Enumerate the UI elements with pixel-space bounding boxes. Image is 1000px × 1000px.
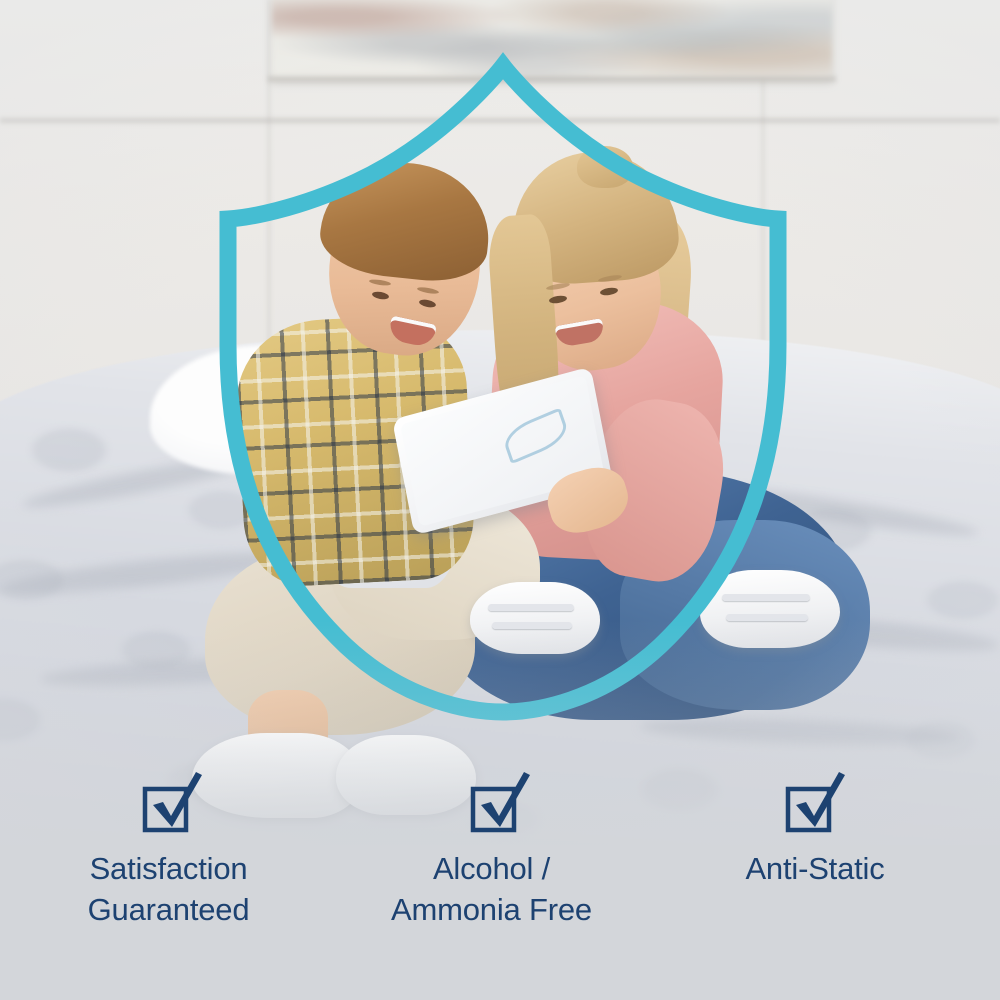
feature-badge-label: Satisfaction Guaranteed	[2, 848, 335, 930]
feature-badge-anti-static: Anti-Static	[666, 772, 1000, 930]
checkbox-checked-icon	[784, 772, 846, 834]
girl-sneaker-left	[470, 582, 600, 654]
girl-sneaker-right	[700, 570, 840, 648]
tablet-screen-glyph	[501, 407, 572, 464]
sneaker-strap	[488, 604, 574, 611]
sneaker-strap	[492, 622, 572, 629]
sneaker-strap	[722, 594, 810, 601]
product-image-stage: Satisfaction Guaranteed Alcohol / Ammoni…	[0, 0, 1000, 1000]
girl-hair-bun	[577, 146, 633, 188]
checkbox-checked-icon	[469, 772, 531, 834]
wall-painting	[272, 0, 832, 80]
feature-badge-label: Alcohol / Ammonia Free	[325, 848, 658, 930]
checkbox-checked-icon	[141, 772, 203, 834]
feature-badge-satisfaction-guaranteed: Satisfaction Guaranteed	[0, 772, 333, 930]
feature-badge-label: Anti-Static	[648, 848, 982, 889]
wall-molding	[0, 118, 1000, 123]
feature-badges: Satisfaction Guaranteed Alcohol / Ammoni…	[0, 772, 1000, 930]
feature-badge-alcohol-ammonia-free: Alcohol / Ammonia Free	[333, 772, 666, 930]
wall-painting-frame-edge	[268, 76, 836, 82]
sneaker-strap	[726, 614, 808, 621]
